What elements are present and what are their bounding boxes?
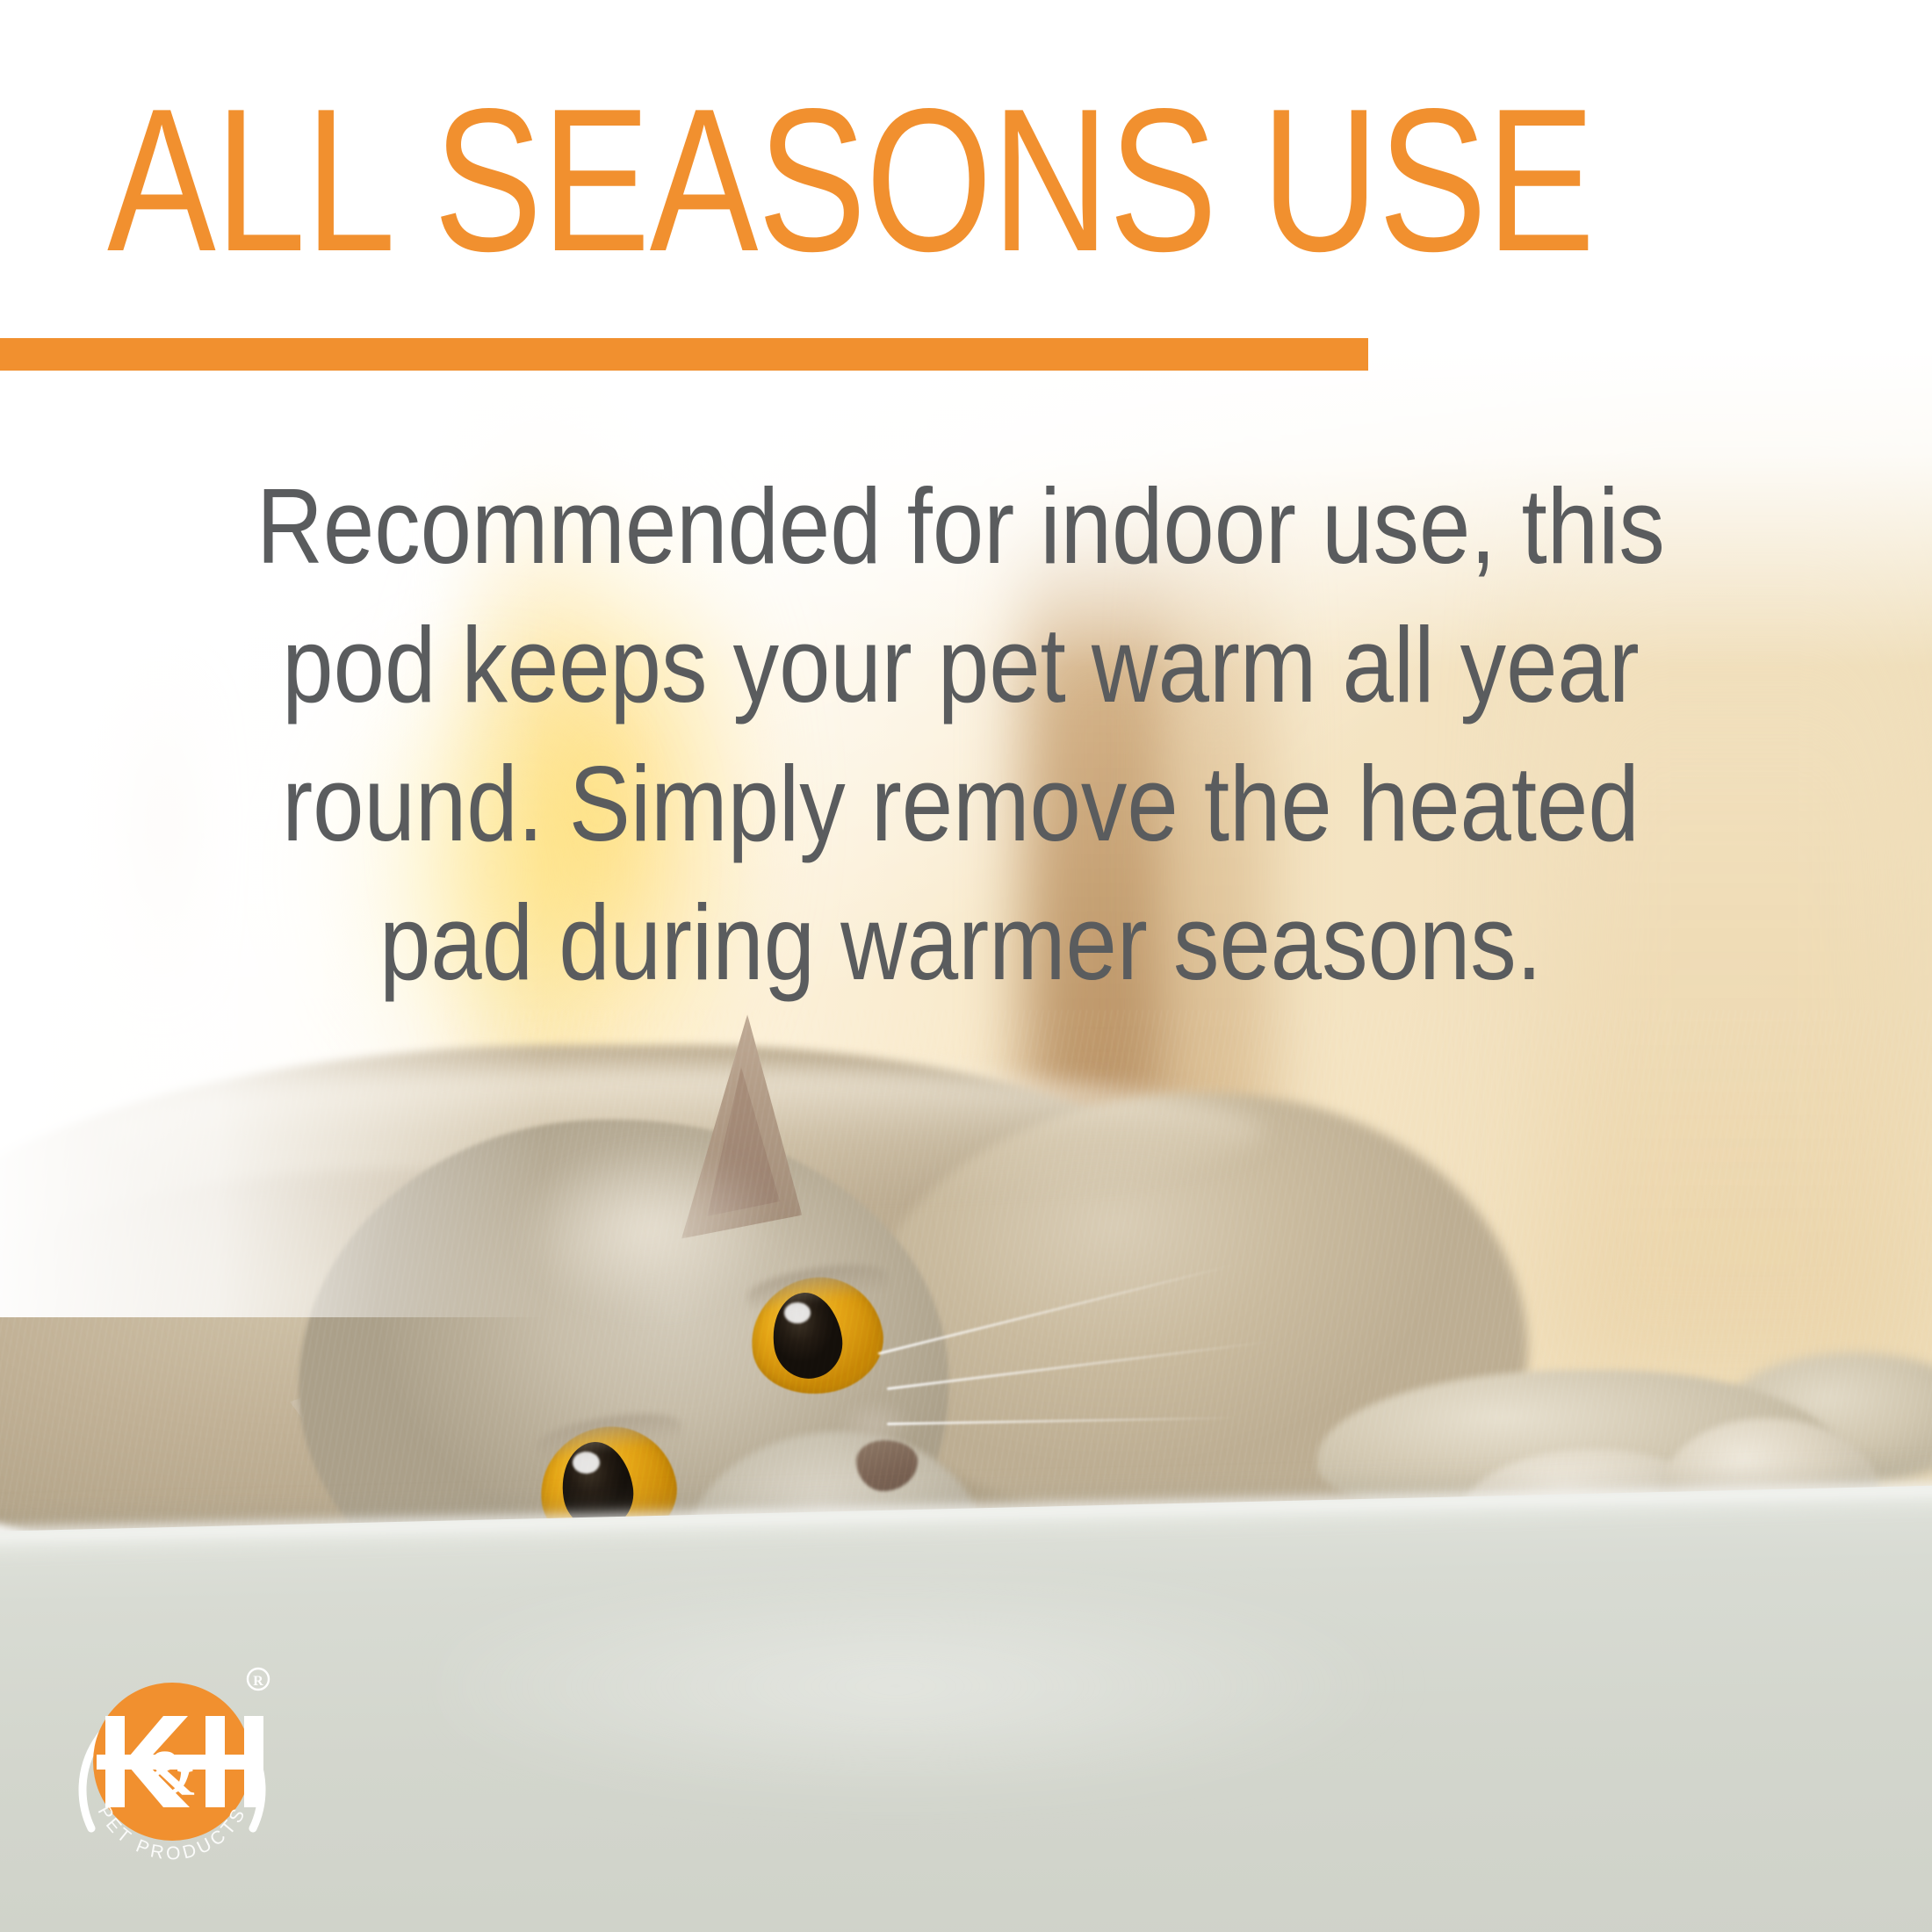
carpet-sheen (439, 1581, 1581, 1844)
svg-text:&: & (143, 1738, 198, 1810)
registered-trademark-icon: R (248, 1669, 269, 1690)
kh-pet-products-logo: & PET PRODUCTS R (54, 1647, 290, 1883)
title-underline-rule (0, 338, 1368, 371)
page-title: ALL SEASONS USE (107, 79, 1594, 283)
svg-text:R: R (253, 1674, 263, 1689)
product-feature-card: ALL SEASONS USE Recommended for indoor u… (0, 0, 1932, 1932)
description-paragraph: Recommended for indoor use, this pod kee… (224, 457, 1698, 1012)
